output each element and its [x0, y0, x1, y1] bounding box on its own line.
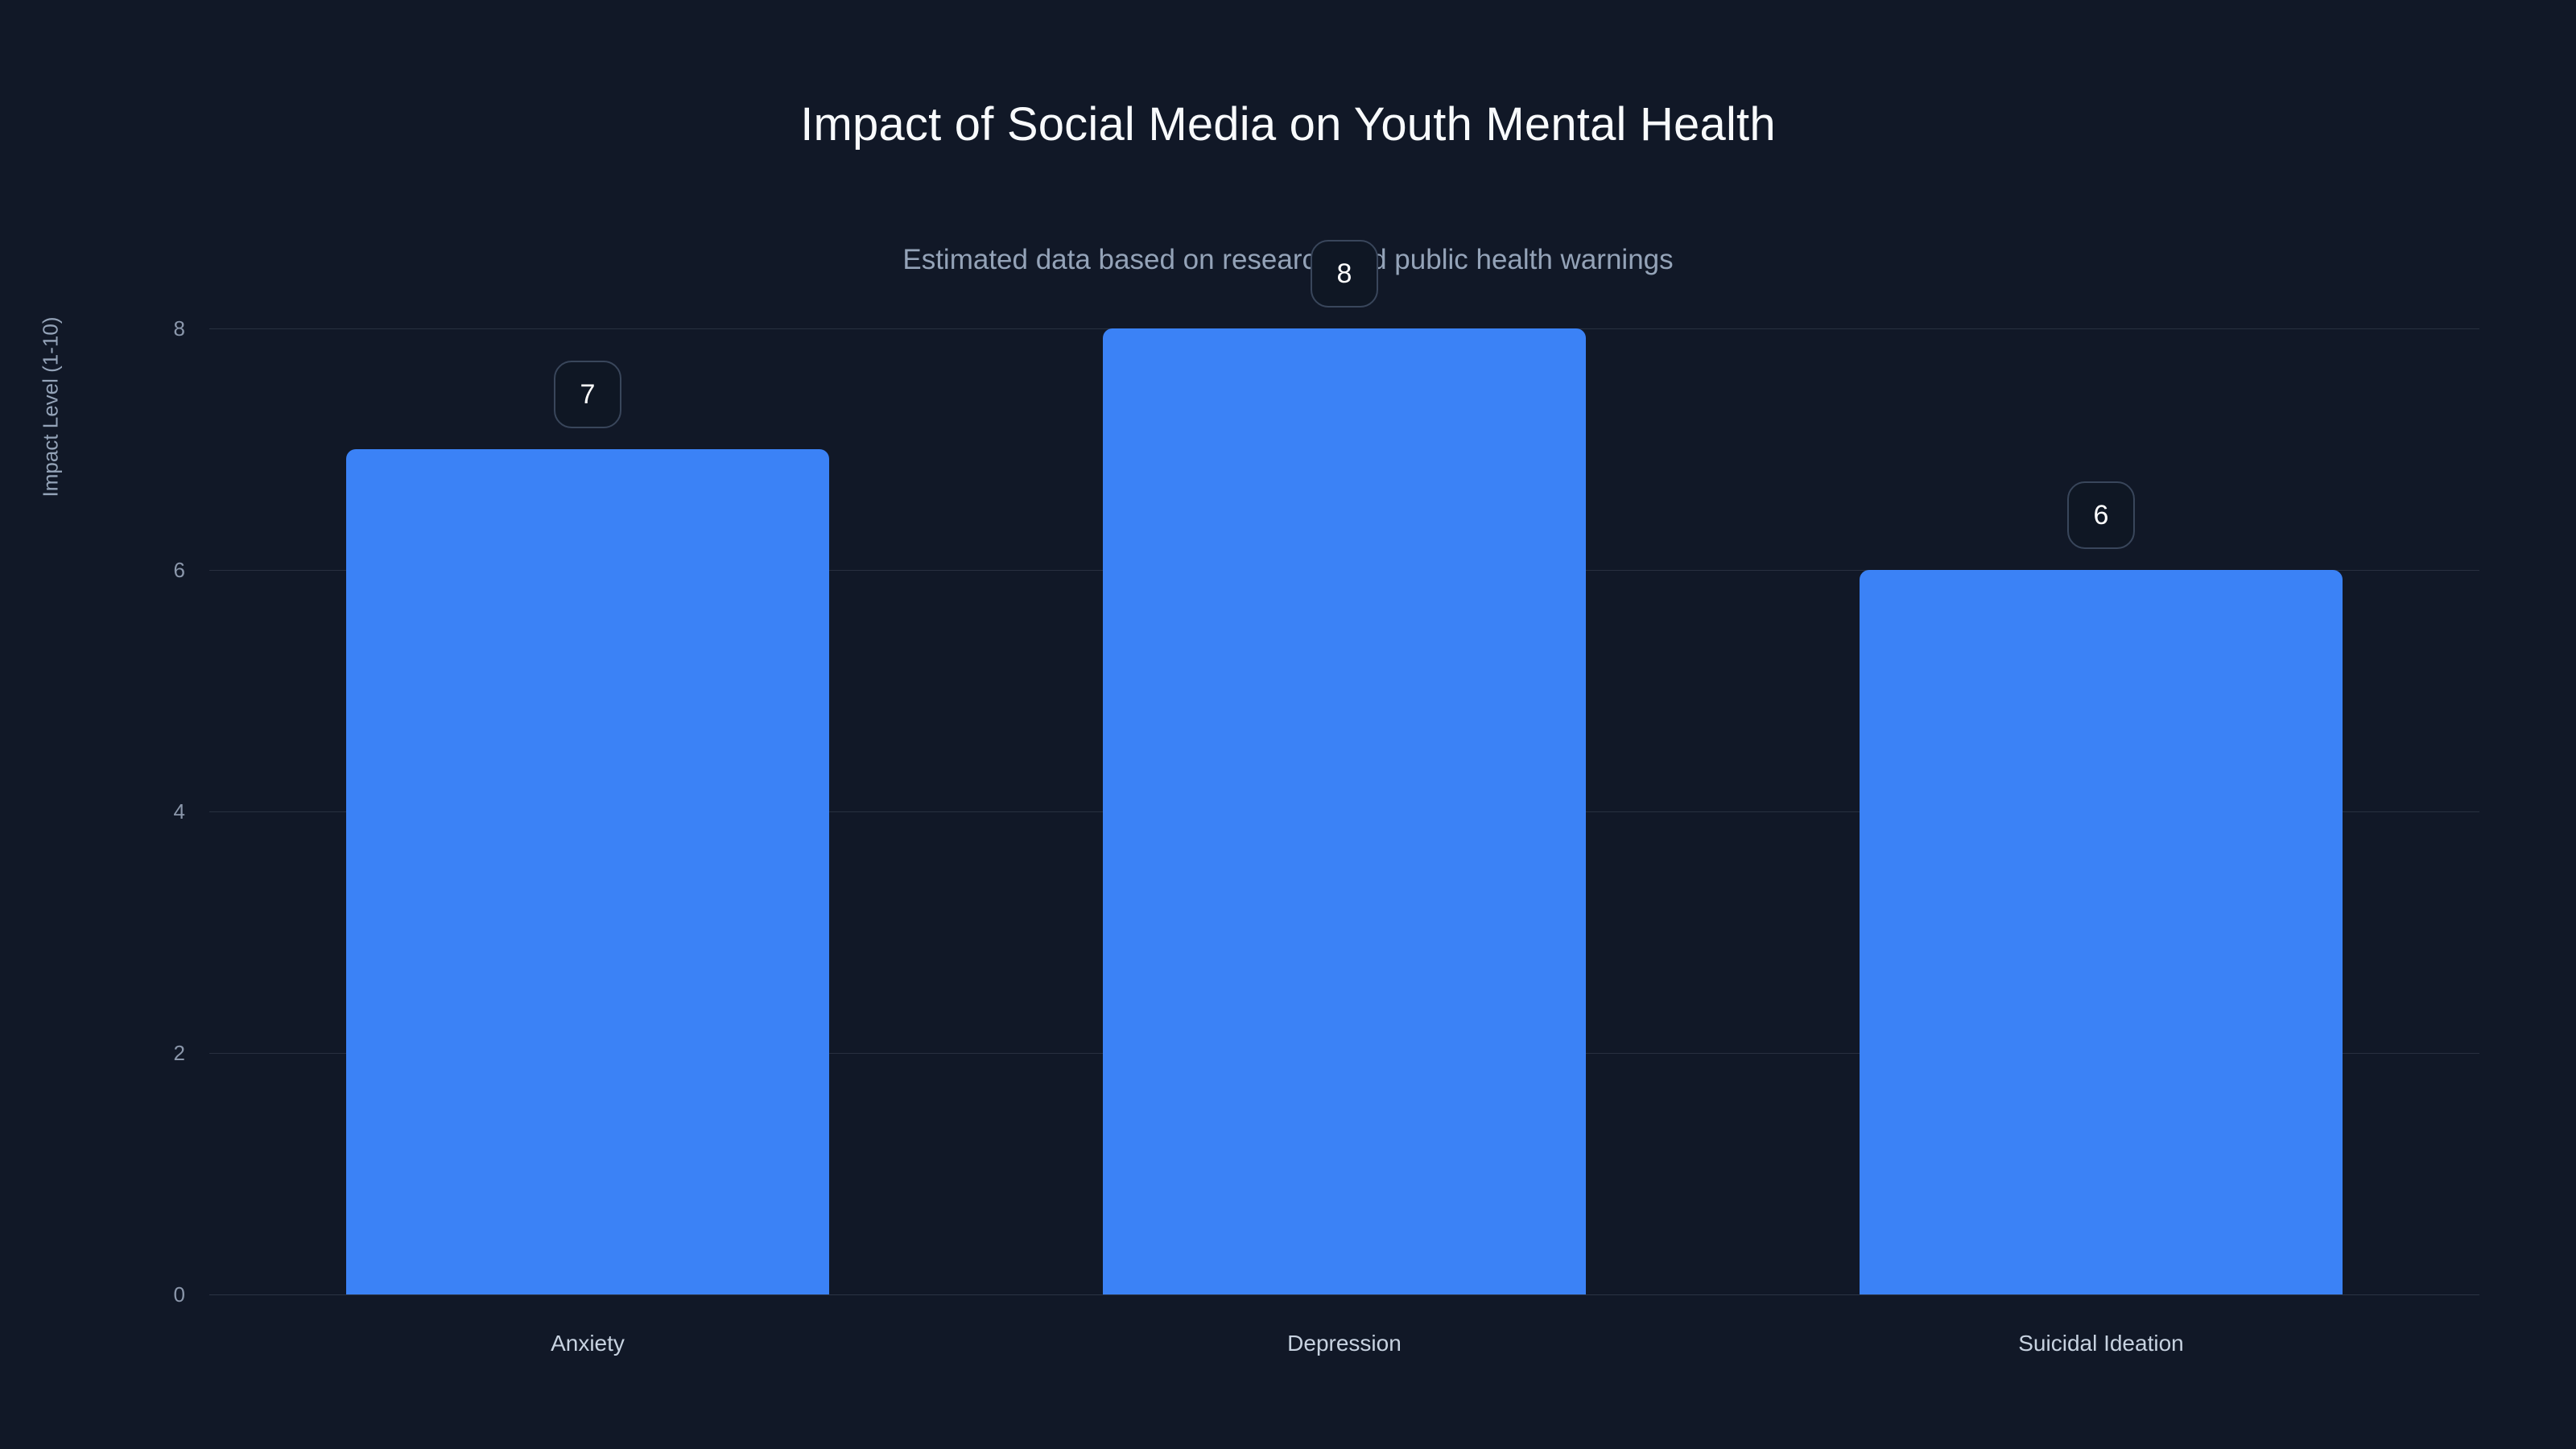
y-axis-tick-label: 4	[137, 801, 185, 822]
x-axis-tick-label: Suicidal Ideation	[1779, 1332, 2423, 1355]
chart-subtitle: Estimated data based on research and pub…	[0, 243, 2576, 277]
y-axis-tick-label: 8	[137, 318, 185, 339]
bar[interactable]	[1860, 570, 2343, 1294]
x-axis-tick-label: Depression	[1022, 1332, 1666, 1355]
bar[interactable]	[1103, 328, 1586, 1294]
page-title: Impact of Social Media on Youth Mental H…	[0, 97, 2576, 153]
y-axis-tick-label: 6	[137, 559, 185, 580]
bar-value-badge: 8	[1311, 240, 1378, 308]
y-axis-title: Impact Level (1-10)	[39, 270, 64, 544]
x-axis-baseline	[209, 1294, 2479, 1295]
plot-area	[209, 328, 2479, 1294]
bar-value-badge: 6	[2067, 481, 2135, 549]
x-axis-tick-label: Anxiety	[266, 1332, 910, 1355]
bar-chart-figure: Impact of Social Media on Youth Mental H…	[0, 0, 2576, 1449]
bar-value-badge: 7	[554, 361, 621, 428]
y-axis-tick-label: 2	[137, 1042, 185, 1063]
bar[interactable]	[346, 449, 829, 1294]
y-axis-tick-label: 0	[137, 1284, 185, 1305]
